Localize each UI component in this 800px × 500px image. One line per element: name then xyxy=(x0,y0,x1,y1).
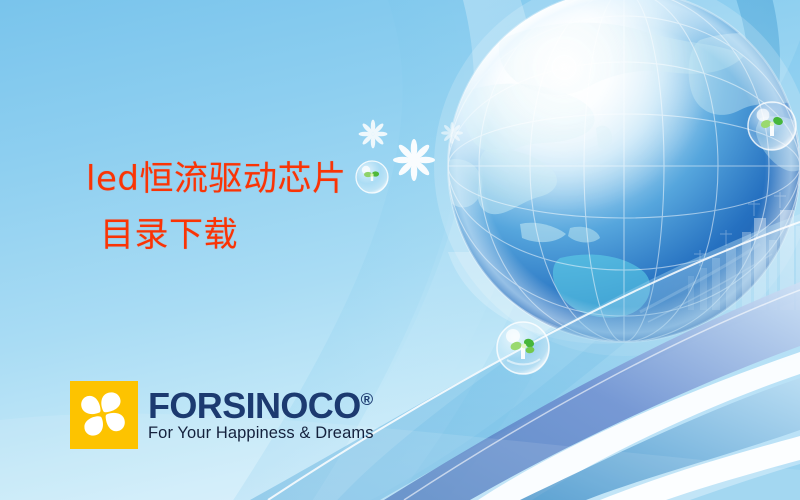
logo-wordmark: FORSINOCO® For Your Happiness & Dreams xyxy=(148,388,374,443)
brand-name-text: FORSINOCO xyxy=(148,385,361,426)
registered-trademark-icon: ® xyxy=(361,390,374,409)
banner-image: led恒流驱动芯片 目录下载 FORSINOCO® For Your Happi… xyxy=(0,0,800,500)
company-logo: FORSINOCO® For Your Happiness & Dreams xyxy=(70,381,374,449)
pinwheel-flower-icon xyxy=(70,381,138,449)
brand-name: FORSINOCO® xyxy=(148,388,374,423)
brand-tagline: For Your Happiness & Dreams xyxy=(148,425,374,442)
